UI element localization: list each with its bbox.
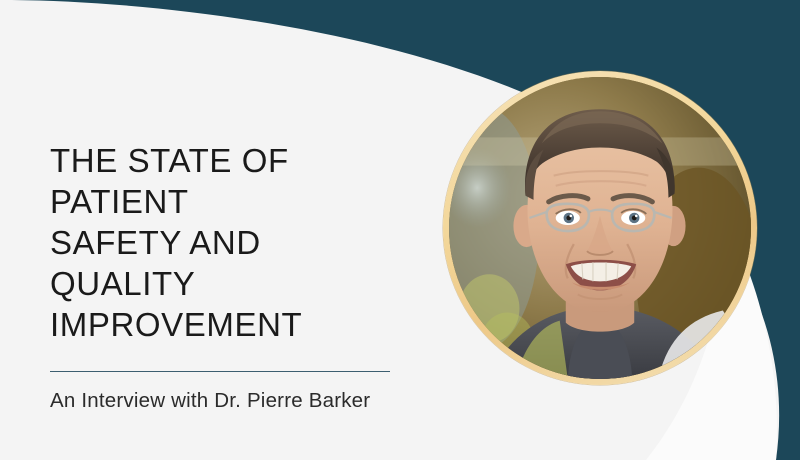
interview-banner: The state of patient safety and quality … — [0, 0, 800, 460]
page-title: The state of patient safety and quality … — [50, 140, 410, 345]
subtitle: An Interview with Dr. Pierre Barker — [50, 372, 410, 414]
portrait-ring — [443, 71, 757, 385]
title-block: The state of patient safety and quality … — [50, 140, 410, 414]
portrait-photo — [449, 77, 751, 379]
avatar — [449, 77, 751, 379]
